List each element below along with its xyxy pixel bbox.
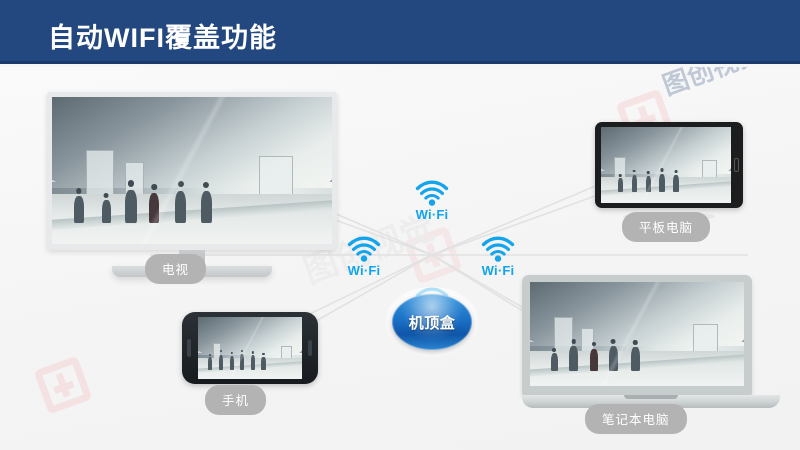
wifi-icon	[480, 236, 516, 262]
hub-label: 机顶盒	[409, 312, 456, 333]
page-title: 自动WIFI覆盖功能	[48, 16, 277, 55]
hub-node-set-top-box[interactable]: 机顶盒	[392, 294, 472, 350]
wifi-label-left: Wi·Fi	[336, 263, 392, 278]
tablet-home-button	[734, 158, 739, 172]
page-header: 自动WIFI覆盖功能	[0, 0, 800, 64]
phone-speaker	[308, 340, 312, 356]
device-tv	[47, 92, 337, 277]
wifi-badge-left: Wi·Fi	[336, 236, 392, 278]
hub-ellipse: 机顶盒	[392, 294, 472, 350]
wifi-icon	[346, 236, 382, 262]
laptop-trackpad-notch	[624, 395, 678, 399]
tablet-screen-frame	[595, 122, 743, 208]
laptop-screen-frame	[522, 275, 752, 395]
label-laptop: 笔记本电脑	[585, 404, 687, 434]
device-laptop	[522, 275, 780, 408]
label-tablet: 平板电脑	[622, 212, 710, 242]
phone-screen-content	[198, 317, 302, 379]
device-phone	[182, 312, 318, 384]
tablet-screen-content	[601, 127, 731, 203]
phone-screen-frame	[182, 312, 318, 384]
wifi-icon	[414, 180, 450, 206]
phone-home-button	[187, 339, 191, 357]
wifi-badge-top: Wi·Fi	[404, 180, 460, 222]
label-tv: 电视	[145, 254, 206, 284]
wifi-badge-right: Wi·Fi	[470, 236, 526, 278]
diagram-canvas: 图创视觉 图创视觉	[0, 67, 800, 450]
tv-screen-frame	[47, 92, 337, 250]
laptop-screen-content	[530, 282, 744, 386]
wifi-label-right: Wi·Fi	[470, 263, 526, 278]
tv-screen-content	[52, 97, 332, 244]
wifi-label-top: Wi·Fi	[404, 207, 460, 222]
device-tablet	[595, 122, 743, 221]
label-phone: 手机	[205, 385, 266, 415]
